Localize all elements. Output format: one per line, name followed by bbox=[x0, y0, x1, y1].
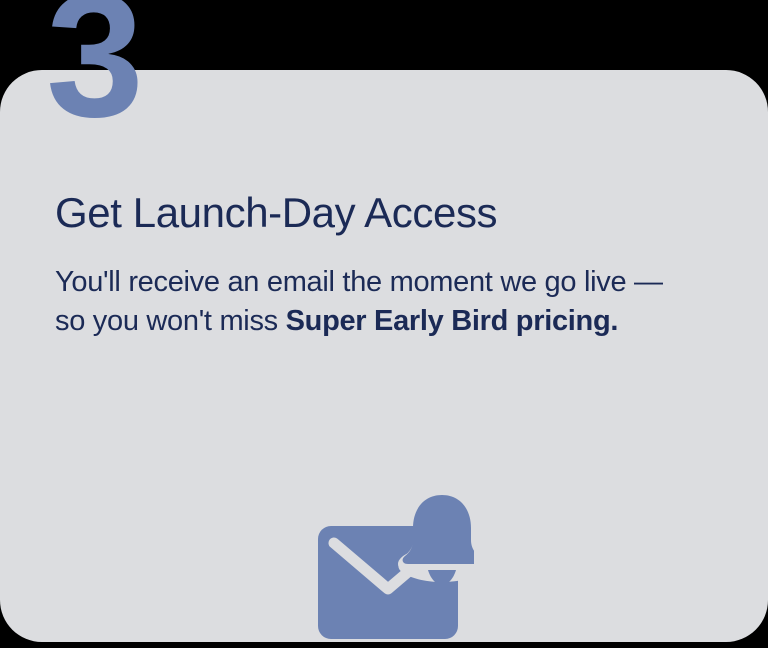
launch-day-access-card: Get Launch-Day Access You'll receive an … bbox=[0, 70, 768, 642]
step-number: 3 bbox=[46, 0, 142, 144]
envelope-notification-icon bbox=[310, 490, 474, 648]
card-content: Get Launch-Day Access You'll receive an … bbox=[55, 190, 705, 341]
page-title: Get Launch-Day Access bbox=[55, 190, 705, 236]
description-text-plain: You'll receive an email the moment we go bbox=[55, 266, 576, 298]
screenshot-root: Get Launch-Day Access You'll receive an … bbox=[0, 0, 768, 642]
description-emphasis: Super Early Bird pricing. bbox=[286, 305, 619, 337]
card-description: You'll receive an email the moment we go… bbox=[55, 263, 680, 341]
